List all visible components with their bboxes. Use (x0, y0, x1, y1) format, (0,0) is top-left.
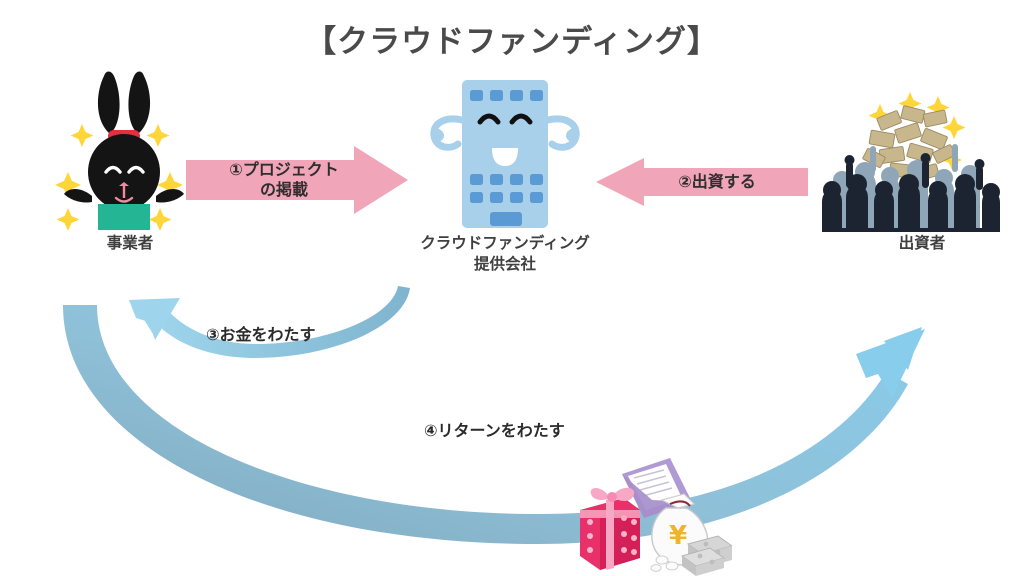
crowd-with-money-icon (818, 84, 1002, 232)
node-label-platform-line1: クラウドファンディング (370, 233, 640, 254)
node-label-platform: クラウドファンディング 提供会社 (370, 233, 640, 275)
node-label-operator: 事業者 (48, 233, 212, 254)
rewards-gift-and-money-icon: ¥ (566, 452, 732, 576)
node-label-platform-line2: 提供会社 (370, 254, 640, 275)
building-mascot-icon (418, 76, 592, 230)
flow-arrow-step2: ②出資する (596, 158, 808, 206)
right-arrow-shape-icon (186, 146, 408, 214)
flow-label-step3: ③お金をわたす (206, 321, 316, 345)
node-label-investor: 出資者 (840, 233, 1004, 254)
gift-box-icon (580, 488, 640, 570)
flow-arrow-step1: ①プロジェクト の掲載 (186, 146, 408, 214)
svg-text:¥: ¥ (669, 521, 687, 551)
left-arrow-shape-icon (596, 158, 808, 206)
rabbit-mascot-icon (42, 68, 218, 230)
flow-label-step4: ④リターンをわたす (424, 417, 565, 441)
